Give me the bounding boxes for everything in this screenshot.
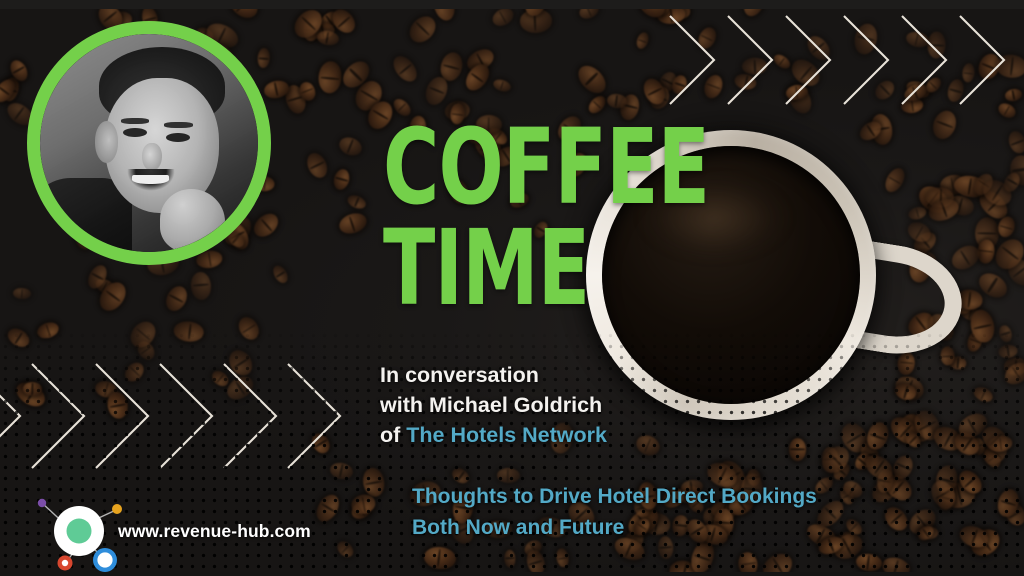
brand-name: The Hotels Network — [406, 423, 607, 447]
coffee-bean — [634, 30, 650, 50]
coffee-bean — [422, 545, 456, 571]
coffee-bean — [881, 165, 908, 196]
avatar-photo — [40, 34, 258, 252]
coffee-bean — [573, 61, 610, 99]
coffee-bean — [337, 210, 369, 237]
coffee-bean — [880, 502, 912, 535]
coffee-bean — [312, 491, 343, 526]
avatar-hand — [160, 189, 225, 252]
coffee-bean — [504, 549, 516, 567]
coffee-bean — [345, 193, 367, 212]
coffee-bean — [634, 432, 664, 459]
coffee-bean — [13, 287, 32, 300]
coffee-bean — [361, 466, 386, 498]
coffee-bean — [929, 107, 960, 142]
chevron-arrows-right-icon — [0, 362, 346, 470]
coffee-bean — [337, 134, 365, 159]
coffee-bean — [334, 538, 356, 560]
coffee-bean — [1005, 129, 1024, 156]
coffee-bean — [971, 384, 995, 404]
coffee-bean — [389, 52, 421, 86]
coffee-bean — [126, 317, 161, 352]
avatar-teeth — [132, 175, 169, 185]
coffee-time-banner: COFFEE TIME In conversation with Michael… — [0, 0, 1024, 576]
coffee-bean — [4, 325, 32, 351]
subtitle-of-prefix: of — [380, 423, 406, 447]
topic-line-2: Both Now and Future — [412, 512, 817, 543]
top-bar — [0, 0, 1024, 9]
coffee-bean — [303, 149, 331, 181]
coffee-bean — [316, 30, 340, 47]
coffee-bean — [405, 11, 441, 47]
topic-block: Thoughts to Drive Hotel Direct Bookings … — [412, 481, 817, 543]
chevron-arrows-right-icon — [668, 14, 1024, 106]
coffee-bean — [998, 324, 1014, 344]
page-title: COFFEE TIME — [383, 117, 709, 319]
title-line-2: TIME — [383, 218, 709, 319]
coffee-bean — [173, 320, 205, 343]
coffee-bean — [257, 48, 271, 69]
coffee-bean — [897, 351, 916, 375]
coffee-bean — [997, 343, 1018, 358]
coffee-bean — [35, 320, 61, 341]
coffee-bean — [331, 168, 351, 192]
bottom-bar — [0, 572, 1024, 576]
coffee-bean — [788, 439, 805, 462]
coffee-bean — [251, 209, 283, 241]
subtitle-line-1: In conversation — [380, 360, 607, 390]
avatar-eyebrow-right — [164, 122, 192, 128]
avatar-eye-left — [123, 128, 147, 137]
chevron-strip-bottom-left — [0, 362, 346, 475]
coffee-bean — [271, 263, 292, 286]
subtitle-block: In conversation with Michael Goldrich of… — [380, 360, 607, 450]
website-url[interactable]: www.revenue-hub.com — [118, 521, 311, 542]
coffee-bean — [235, 313, 263, 343]
coffee-bean — [317, 60, 342, 94]
avatar-ear — [95, 121, 119, 162]
chevron-strip-top-right — [668, 14, 1024, 111]
coffee-bean — [940, 346, 954, 365]
topic-line-1: Thoughts to Drive Hotel Direct Bookings — [412, 481, 817, 512]
subtitle-line-2: with Michael Goldrich — [380, 390, 607, 420]
subtitle-line-3: of The Hotels Network — [380, 420, 607, 450]
coffee-bean — [855, 552, 883, 573]
coffee-bean — [162, 282, 192, 314]
avatar-eyebrow-left — [121, 118, 149, 124]
coffee-bean — [190, 271, 212, 300]
coffee-bean — [555, 548, 570, 569]
avatar — [27, 21, 271, 265]
coffee-bean — [492, 78, 512, 94]
